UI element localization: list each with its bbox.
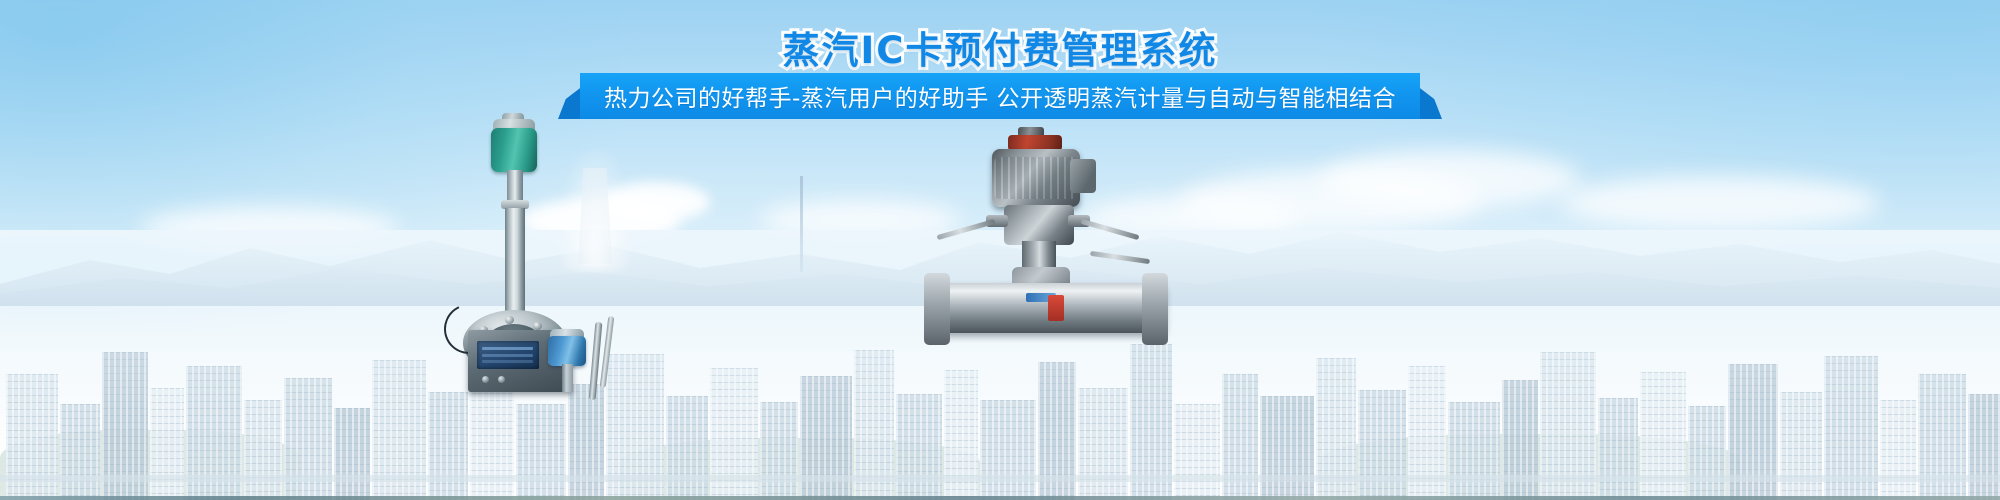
hero-banner: 蒸汽IC卡预付费管理系统 热力公司的好帮手-蒸汽用户的好助手 公开透明蒸汽计量与… — [0, 0, 2000, 500]
title-block: 蒸汽IC卡预付费管理系统 — [0, 20, 2000, 74]
building — [568, 384, 604, 500]
building — [1448, 402, 1500, 500]
building — [60, 404, 100, 500]
building — [1502, 380, 1538, 500]
subtitle-ribbon: 热力公司的好帮手-蒸汽用户的好助手 公开透明蒸汽计量与自动与智能相结合 — [558, 73, 1442, 119]
actuator-arm — [1080, 219, 1139, 240]
controller-button — [482, 376, 489, 383]
pressure-transmitter — [548, 318, 608, 388]
bottom-edge-strip — [0, 496, 2000, 500]
building — [1880, 400, 1916, 500]
transmitter-stem — [562, 364, 573, 392]
actuator-ribs — [994, 157, 1078, 199]
building — [1598, 398, 1638, 500]
controller-display — [477, 341, 539, 369]
actuator-yoke — [1004, 205, 1074, 245]
valve-flange-left — [924, 273, 950, 345]
building — [428, 392, 468, 500]
page-title: 蒸汽IC卡预付费管理系统 — [783, 20, 1218, 74]
page-subtitle: 热力公司的好帮手-蒸汽用户的好助手 公开透明蒸汽计量与自动与智能相结合 — [604, 79, 1396, 113]
building — [760, 402, 798, 500]
road — [0, 475, 2000, 482]
meter-head — [491, 128, 537, 172]
ribbon-body: 热力公司的好帮手-蒸汽用户的好助手 公开透明蒸汽计量与自动与智能相结合 — [580, 73, 1420, 119]
meter-neck — [507, 170, 523, 204]
flange-bolt — [505, 316, 514, 324]
building — [1968, 394, 2000, 500]
controller-button — [498, 376, 505, 383]
actuator-arm — [1090, 251, 1150, 264]
building — [1780, 392, 1822, 500]
building — [1260, 396, 1314, 500]
pneumatic-control-valve — [930, 135, 1180, 385]
building — [334, 408, 370, 500]
building — [896, 394, 942, 500]
building — [666, 396, 708, 500]
flange-bolt — [533, 322, 542, 330]
radio-antenna — [800, 176, 803, 272]
actuator-positioner — [1070, 159, 1096, 193]
building — [1078, 388, 1128, 500]
building — [1174, 404, 1220, 500]
building — [980, 400, 1036, 500]
transmitter-head — [548, 336, 586, 366]
building — [1688, 406, 1726, 500]
valve-flange-right — [1142, 273, 1168, 345]
building — [516, 404, 566, 500]
building — [150, 388, 184, 500]
actuator-arm — [936, 219, 995, 240]
building — [1358, 390, 1406, 500]
meter-stem — [505, 208, 525, 318]
valve-label-red — [1048, 295, 1064, 321]
building — [244, 400, 282, 500]
